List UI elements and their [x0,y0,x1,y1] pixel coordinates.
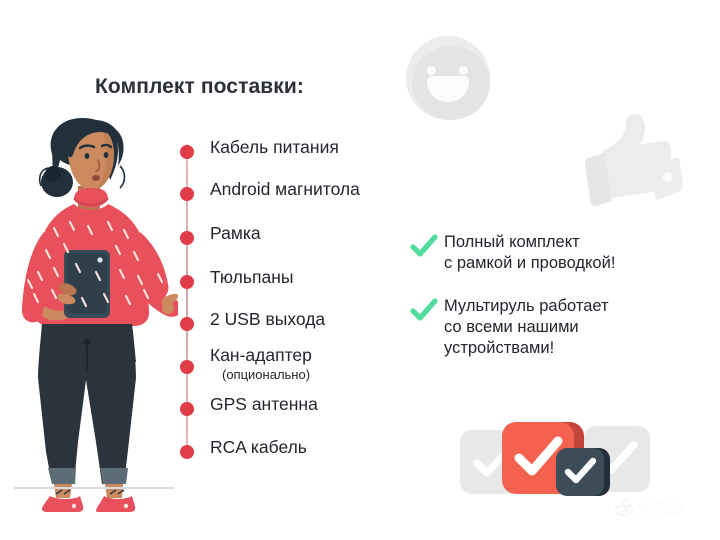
smiley-eye-right [459,66,468,75]
benefit-item: Мультируль работает со всеми нашими устр… [410,296,680,358]
smiley-face-icon [406,36,490,120]
bullet-dot [180,275,194,289]
check-icon [410,297,438,325]
ground-line [14,487,174,489]
bullet-dot [180,360,194,374]
bullet-dot [180,187,194,201]
avito-logo-dot [627,506,633,512]
page-title: Комплект поставки: [95,75,304,99]
smiley-eye-left [427,66,436,75]
avito-logo-dot [623,500,629,506]
list-item-label: Android магнитола [210,180,360,199]
benefit-text: Мультируль работает со всеми нашими устр… [444,296,609,358]
list-item-label: Кан-адаптер [210,346,312,365]
woman-with-tablet-illustration [8,112,178,512]
bullet-dot [180,231,194,245]
check-icon [410,233,438,261]
avito-wordmark: Avito [636,499,681,518]
list-item-label: 2 USB выхода [210,310,325,329]
list-item-label: Рамка [210,224,261,243]
list-item-label: Кабель питания [210,138,339,157]
bullet-dot [180,445,194,459]
checkbox-card-dark [556,448,604,496]
list-item-sublabel: (опционально) [222,367,310,382]
list-item-label: Тюльпаны [210,268,293,287]
avito-logo-icon [616,500,633,517]
benefit-text: Полный комплект с рамкой и проводкой! [444,232,615,274]
list-item-label: GPS антенна [210,395,318,414]
avito-watermark: Avito [616,499,681,518]
promo-image-canvas: Комплект поставки: Кабель питания Androi… [0,0,720,540]
package-contents-list: Кабель питания Android магнитола Рамка Т… [180,130,430,460]
list-item-label: RCA кабель [210,438,307,457]
avito-logo-dot [622,511,627,516]
thumbs-up-icon [572,105,688,215]
bullet-dot [180,402,194,416]
check-icon [556,448,604,496]
bullet-dot [180,145,194,159]
benefit-item: Полный комплект с рамкой и проводкой! [410,232,680,274]
bullet-dot [180,317,194,331]
checkbox-cards-icon [458,404,648,508]
